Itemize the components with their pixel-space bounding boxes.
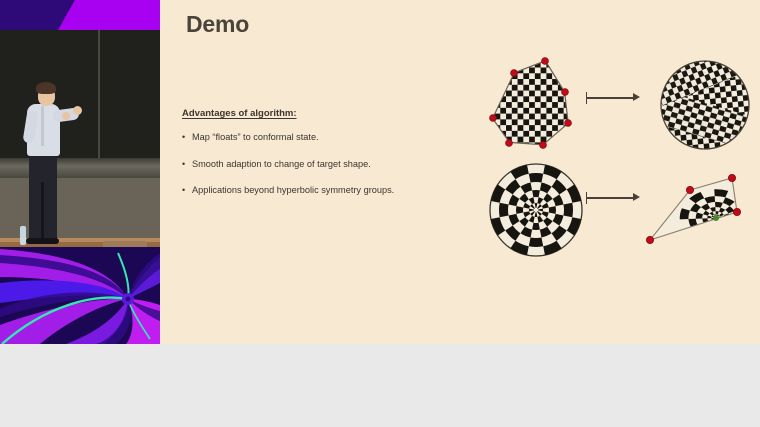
bullet-text: Smooth adaption to change of target shap… [192, 159, 371, 170]
speaker-video-feed[interactable] [0, 30, 160, 247]
bullet-text: Map “floats” to conformal state. [192, 132, 319, 143]
checkerboard-disk-svg [652, 52, 758, 158]
screen: Demo Advantages of algorithm: • Map “flo… [0, 0, 760, 427]
presentation-slide: Demo Advantages of algorithm: • Map “flo… [160, 0, 760, 344]
advantages-block: Advantages of algorithm: • Map “floats” … [182, 108, 462, 212]
chalk-ledge [0, 158, 160, 178]
radial-checkerboard-disk-diagram [482, 158, 590, 262]
speaker-hair [36, 82, 56, 94]
speaker-left-hand [62, 112, 70, 120]
list-item: • Map “floats” to conformal state. [182, 132, 462, 143]
spiral-svg [0, 247, 160, 344]
checkerboard-quadrilateral-diagram [632, 160, 752, 260]
bullet-text: Applications beyond hyperbolic symmetry … [192, 185, 394, 196]
checkerboard-disk-diagram [652, 52, 758, 158]
maps-to-arrow-top [586, 91, 642, 105]
speaker-legs [29, 152, 57, 244]
page-title: Demo [186, 11, 249, 38]
water-bottle [20, 226, 26, 245]
quadrilateral-svg [632, 160, 752, 260]
arrow-shaft [586, 197, 634, 198]
bullet-marker: • [182, 132, 192, 143]
speaker-right-hand [73, 106, 82, 115]
advantages-heading: Advantages of algorithm: [182, 108, 462, 119]
checkerboard-polygon-diagram [475, 50, 595, 160]
purple-spiral-graphic [0, 247, 160, 344]
purple-banner-graphic [0, 0, 160, 30]
list-item: • Smooth adaption to change of target sh… [182, 159, 462, 170]
bullet-marker: • [182, 159, 192, 170]
arrow-head [633, 93, 640, 101]
radial-checkerboard-svg [482, 158, 590, 262]
bullet-marker: • [182, 185, 192, 196]
list-item: • Applications beyond hyperbolic symmetr… [182, 185, 462, 196]
speaker-shoes [26, 238, 59, 244]
checkerboard-polygon-svg [475, 50, 595, 160]
sponsor-footer: [ M A T R I X ] × IMAGINARY / 2022 ihp I… [0, 344, 760, 427]
arrow-shaft [586, 97, 634, 98]
presenter-panel [0, 0, 160, 344]
banner-violet-shape [48, 0, 160, 30]
